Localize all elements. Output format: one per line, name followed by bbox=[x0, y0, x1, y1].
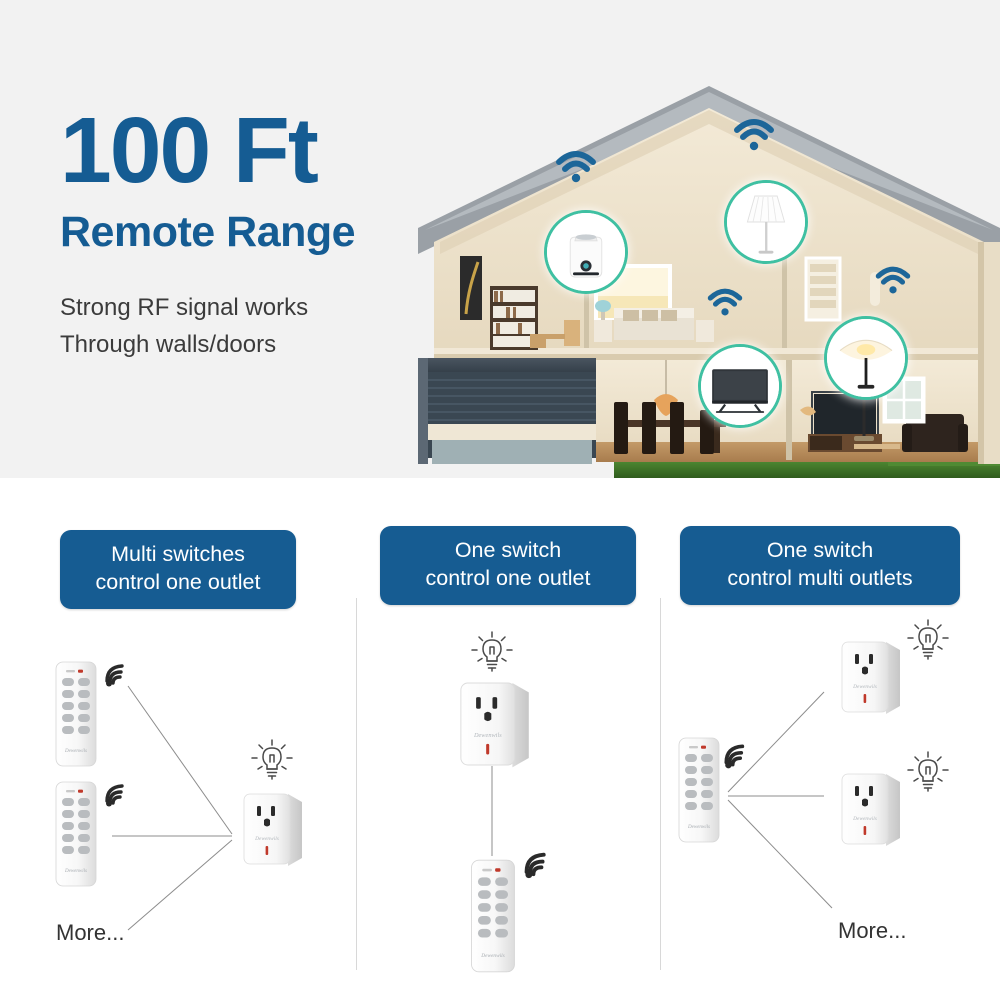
spot-humidifier bbox=[544, 210, 628, 294]
smart-outlet[interactable]: Dewenwils bbox=[838, 768, 906, 855]
panel-one-switch-multi-outlets: One switch control multi outlets bbox=[660, 478, 1000, 1000]
light-bulb bbox=[246, 734, 298, 791]
remote-control-icon: Dewenwils bbox=[468, 858, 518, 974]
more-label: More... bbox=[56, 920, 124, 946]
wifi-icon bbox=[103, 662, 131, 688]
television-icon bbox=[701, 347, 779, 425]
svg-text:Dewenwils: Dewenwils bbox=[687, 825, 710, 830]
hero-subtitle: Remote Range bbox=[60, 210, 460, 255]
light-bulb bbox=[466, 626, 518, 683]
spot-table-lamp bbox=[724, 180, 808, 264]
status-badge: One switch control multi outlets bbox=[680, 526, 960, 605]
spot-floor-lamp bbox=[824, 316, 908, 400]
panel-3-label-line-2: control multi outlets bbox=[696, 564, 944, 592]
smart-outlet-icon: Dewenwils bbox=[456, 676, 536, 772]
wifi-icon bbox=[706, 286, 744, 317]
hero-description-line-2: Through walls/doors bbox=[60, 326, 460, 363]
panel-2-label-line-2: control one outlet bbox=[396, 564, 620, 592]
house-illustration bbox=[418, 58, 1000, 478]
remote-control-icon: Dewenwils bbox=[676, 736, 722, 844]
svg-text:Dewenwils: Dewenwils bbox=[473, 732, 502, 739]
wifi-icon bbox=[722, 742, 752, 770]
table-lamp-icon bbox=[727, 183, 805, 261]
remote-control[interactable]: Dewenwils bbox=[468, 858, 518, 979]
page-title: 100 Ft bbox=[60, 108, 460, 194]
svg-text:Dewenwils: Dewenwils bbox=[852, 816, 877, 822]
hero-text-block: 100 Ft Remote Range Strong RF signal wor… bbox=[60, 108, 460, 363]
spot-television bbox=[698, 344, 782, 428]
wifi-icon bbox=[103, 782, 131, 808]
panel-2-label-line-1: One switch bbox=[396, 536, 620, 564]
humidifier-icon bbox=[547, 213, 625, 291]
light-bulb-icon bbox=[902, 614, 954, 666]
panel-1-label-line-1: Multi switches bbox=[76, 540, 280, 568]
remote-control-icon: Dewenwils bbox=[53, 780, 99, 888]
status-badge: Multi switches control one outlet bbox=[60, 530, 296, 609]
smart-outlet[interactable]: Dewenwils bbox=[240, 788, 308, 875]
svg-text:Dewenwils: Dewenwils bbox=[64, 749, 87, 754]
smart-outlet[interactable]: Dewenwils bbox=[838, 636, 906, 723]
smart-outlet-icon: Dewenwils bbox=[838, 636, 906, 718]
svg-text:Dewenwils: Dewenwils bbox=[254, 836, 279, 842]
remote-control[interactable]: Dewenwils bbox=[53, 660, 99, 773]
svg-text:Dewenwils: Dewenwils bbox=[480, 953, 505, 959]
hero-section: 100 Ft Remote Range Strong RF signal wor… bbox=[0, 0, 1000, 478]
wifi-icon bbox=[522, 850, 554, 880]
remote-control-icon: Dewenwils bbox=[53, 660, 99, 768]
smart-outlet-icon: Dewenwils bbox=[838, 768, 906, 850]
hero-description: Strong RF signal works Through walls/doo… bbox=[60, 289, 460, 363]
svg-text:Dewenwils: Dewenwils bbox=[852, 684, 877, 690]
remote-control[interactable]: Dewenwils bbox=[676, 736, 722, 849]
panel-multi-switches-one-outlet: Multi switches control one outlet bbox=[0, 478, 356, 1000]
light-bulb-icon bbox=[246, 734, 298, 786]
light-bulb bbox=[902, 746, 954, 803]
panel-1-label-line-2: control one outlet bbox=[76, 568, 280, 596]
svg-text:Dewenwils: Dewenwils bbox=[64, 869, 87, 874]
wifi-icon bbox=[732, 116, 776, 152]
smart-outlet[interactable]: Dewenwils bbox=[456, 676, 536, 777]
light-bulb-icon bbox=[902, 746, 954, 798]
light-bulb-icon bbox=[466, 626, 518, 678]
floor-lamp-icon bbox=[827, 319, 905, 397]
more-label: More... bbox=[838, 918, 906, 944]
remote-control[interactable]: Dewenwils bbox=[53, 780, 99, 893]
light-bulb bbox=[902, 614, 954, 671]
panel-one-switch-one-outlet: One switch control one outlet bbox=[356, 478, 660, 1000]
status-badge: One switch control one outlet bbox=[380, 526, 636, 605]
panel-3-label-line-1: One switch bbox=[696, 536, 944, 564]
hero-description-line-1: Strong RF signal works bbox=[60, 289, 460, 326]
wifi-icon bbox=[874, 264, 912, 295]
infographic-page: 100 Ft Remote Range Strong RF signal wor… bbox=[0, 0, 1000, 1000]
panels-section: Multi switches control one outlet bbox=[0, 478, 1000, 1000]
wifi-icon bbox=[554, 148, 598, 184]
smart-outlet-icon: Dewenwils bbox=[240, 788, 308, 870]
